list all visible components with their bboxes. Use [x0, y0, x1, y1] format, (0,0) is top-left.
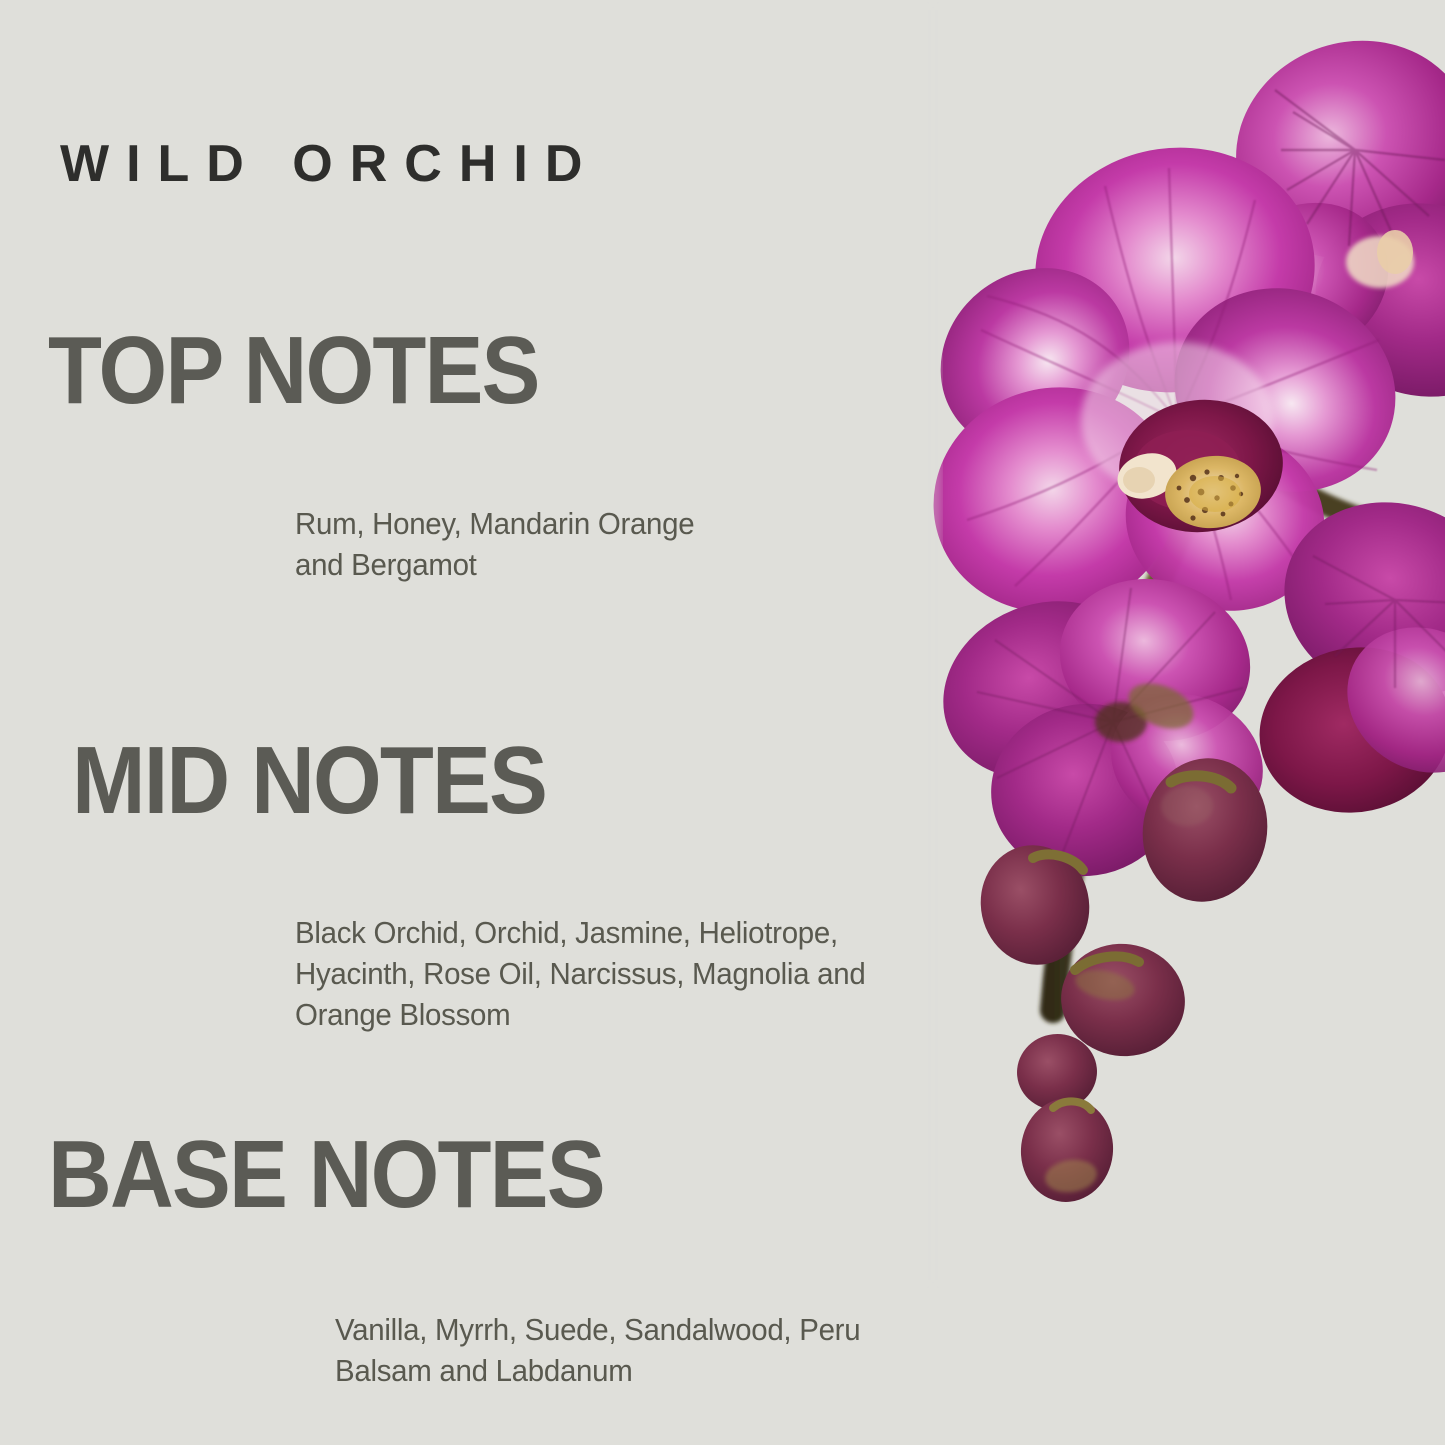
orchid-image: [925, 0, 1445, 1290]
orchid-stem: [1051, 400, 1365, 1010]
mid-notes-heading: MID NOTES: [72, 733, 926, 829]
mid-notes-list: Black Orchid, Orchid, Jasmine, Heliotrop…: [295, 912, 965, 1036]
section-top-notes: TOP NOTES Rum, Honey, Mandarin Orange an…: [0, 323, 1000, 585]
orchid-bloom-main: [925, 130, 1426, 638]
orchid-illustration: [925, 0, 1445, 1290]
orchid-bloom-topright: [1194, 10, 1445, 417]
orchid-buds: [970, 748, 1279, 1206]
base-notes-list: Vanilla, Myrrh, Suede, Sandalwood, Peru …: [335, 1309, 967, 1391]
top-notes-list: Rum, Honey, Mandarin Orange and Bergamot: [295, 503, 965, 585]
product-fragrance-notes-card: WILD ORCHID TOP NOTES Rum, Honey, Mandar…: [0, 0, 1445, 1445]
page-title: WILD ORCHID: [60, 138, 599, 190]
section-base-notes: BASE NOTES Vanilla, Myrrh, Suede, Sandal…: [0, 1127, 1000, 1391]
orchid-bloom-right: [1244, 474, 1445, 830]
top-notes-heading: TOP NOTES: [48, 323, 924, 419]
section-mid-notes: MID NOTES Black Orchid, Orchid, Jasmine,…: [0, 733, 1000, 1036]
base-notes-heading: BASE NOTES: [48, 1127, 924, 1223]
